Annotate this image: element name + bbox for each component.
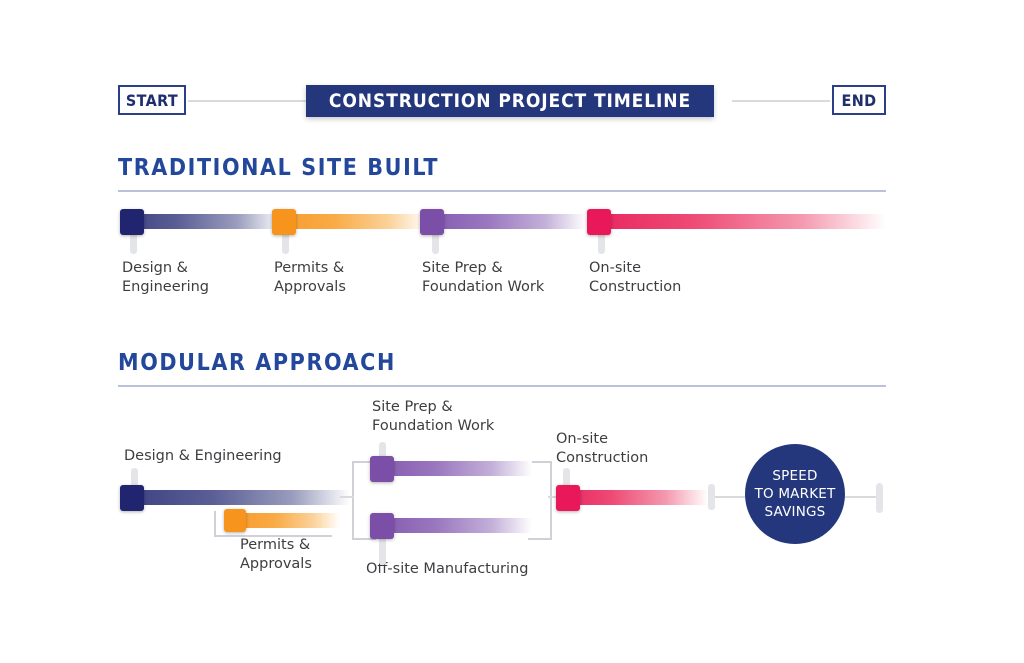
traditional-marker-permits — [272, 209, 296, 235]
traditional-marker-onsite — [587, 209, 611, 235]
traditional-bar-onsite — [588, 214, 886, 229]
traditional-label-permits: Permits & Approvals — [274, 259, 346, 297]
modular-label-siteprep: Site Prep & Foundation Work — [372, 398, 494, 436]
modular-label-onsite: On-site Construction — [556, 430, 648, 468]
timeline-header: START CONSTRUCTION PROJECT TIMELINE END — [118, 85, 886, 121]
section-rule-modular — [118, 385, 886, 387]
modular-bar-design — [122, 490, 350, 505]
header-title-bar: CONSTRUCTION PROJECT TIMELINE — [306, 85, 714, 117]
traditional-label-onsite: On-site Construction — [589, 259, 681, 297]
traditional-bar-design — [122, 214, 282, 229]
header-connector-left — [188, 100, 306, 102]
modular-marker-permits — [224, 509, 246, 532]
modular-label-offsite: Off-site Manufacturing — [366, 560, 528, 579]
savings-badge-label: SPEED TO MARKET SAVINGS — [755, 467, 836, 521]
page-title: CONSTRUCTION PROJECT TIMELINE — [329, 90, 691, 112]
end-label: END — [841, 91, 876, 110]
modular-marker-siteprep — [370, 456, 394, 482]
end-marker-box: END — [832, 85, 886, 115]
section-heading-modular: MODULAR APPROACH — [118, 350, 886, 387]
traditional-label-design: Design & Engineering — [122, 259, 209, 297]
start-marker-box: START — [118, 85, 186, 115]
section-rule-traditional — [118, 190, 886, 192]
start-label: START — [126, 91, 178, 110]
modular-connector-trailing — [843, 496, 879, 498]
infographic-canvas: START CONSTRUCTION PROJECT TIMELINE END … — [0, 0, 1024, 663]
modular-marker-design — [120, 485, 144, 511]
section-title-modular: MODULAR APPROACH — [118, 350, 886, 376]
section-heading-traditional: TRADITIONAL SITE BUILT — [118, 155, 886, 192]
modular-bar-offsite — [372, 518, 532, 533]
modular-marker-offsite — [370, 513, 394, 539]
modular-end-tick — [876, 483, 883, 513]
modular-marker-onsite — [556, 485, 580, 511]
modular-tick-onsite-end — [708, 484, 715, 510]
modular-bar-permits — [232, 513, 340, 528]
modular-label-permits: Permits & Approvals — [240, 536, 312, 574]
traditional-marker-siteprep — [420, 209, 444, 235]
section-title-traditional: TRADITIONAL SITE BUILT — [118, 155, 886, 181]
traditional-marker-design — [120, 209, 144, 235]
header-connector-right — [732, 100, 830, 102]
traditional-label-siteprep: Site Prep & Foundation Work — [422, 259, 544, 297]
speed-to-market-savings-badge: SPEED TO MARKET SAVINGS — [745, 444, 845, 544]
modular-bar-onsite — [560, 490, 708, 505]
modular-label-design: Design & Engineering — [124, 447, 282, 466]
modular-bar-siteprep — [372, 461, 532, 476]
traditional-bar-siteprep — [422, 214, 586, 229]
modular-connector-spine-to-bracket — [340, 496, 354, 498]
